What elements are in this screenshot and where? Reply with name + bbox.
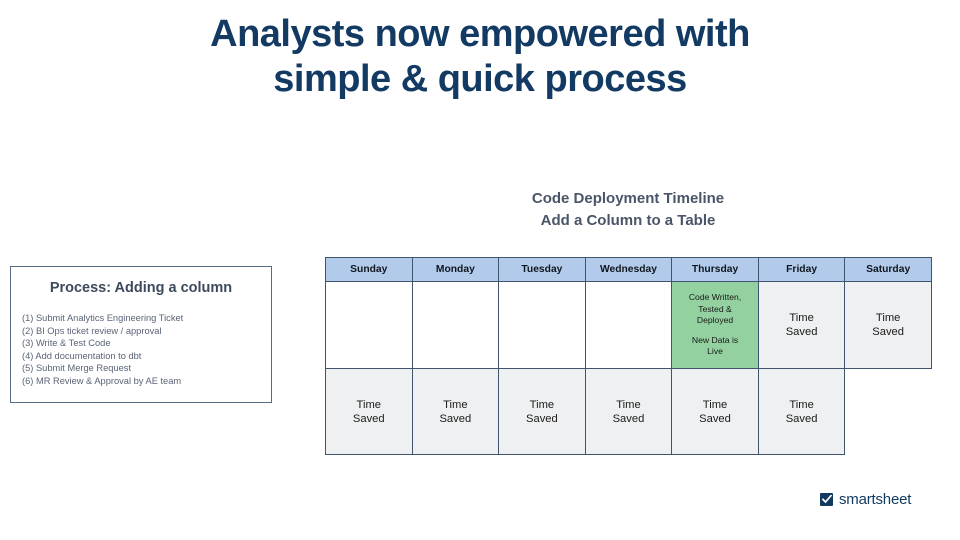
time-saved-line-1: Time — [586, 398, 672, 412]
process-panel: Process: Adding a column (1) Submit Anal… — [10, 266, 272, 403]
process-step-list: (1) Submit Analytics Engineering Ticket … — [22, 312, 271, 388]
cell-wednesday-week1 — [585, 282, 672, 369]
cell-thursday-week2-time-saved: Time Saved — [672, 369, 759, 455]
deployment-timeline-table: Sunday Monday Tuesday Wednesday Thursday… — [325, 257, 932, 455]
process-step: (3) Write & Test Code — [22, 337, 271, 350]
time-saved-line-2: Saved — [672, 412, 758, 426]
smartsheet-wordmark: smartsheet — [839, 491, 911, 508]
column-header-wednesday: Wednesday — [585, 258, 672, 282]
time-saved-line-1: Time — [326, 398, 412, 412]
deployment-text-line-5: Live — [672, 346, 758, 357]
time-saved-line-1: Time — [672, 398, 758, 412]
time-saved-line-1: Time — [759, 398, 845, 412]
cell-saturday-week2-blank — [845, 369, 932, 455]
time-saved-line-1: Time — [499, 398, 585, 412]
deployment-text-line-1: Code Written, — [672, 292, 758, 303]
time-saved-line-1: Time — [845, 311, 931, 325]
column-header-tuesday: Tuesday — [499, 258, 586, 282]
cell-tuesday-week2-time-saved: Time Saved — [499, 369, 586, 455]
process-step: (1) Submit Analytics Engineering Ticket — [22, 312, 271, 325]
cell-sunday-week2-time-saved: Time Saved — [326, 369, 413, 455]
page-title-line-2: simple & quick process — [0, 57, 960, 102]
cell-monday-week2-time-saved: Time Saved — [412, 369, 499, 455]
cell-monday-week1 — [412, 282, 499, 369]
cell-sunday-week1 — [326, 282, 413, 369]
time-saved-line-2: Saved — [499, 412, 585, 426]
process-step: (2) BI Ops ticket review / approval — [22, 325, 271, 338]
deployment-text-line-2: Tested & — [672, 304, 758, 315]
cell-tuesday-week1 — [499, 282, 586, 369]
timeline-heading-line-2: Add a Column to a Table — [325, 210, 931, 232]
table-header-row: Sunday Monday Tuesday Wednesday Thursday… — [326, 258, 932, 282]
table-row: Time Saved Time Saved Time Saved Time Sa… — [326, 369, 932, 455]
column-header-friday: Friday — [758, 258, 845, 282]
timeline-heading: Code Deployment Timeline Add a Column to… — [325, 188, 931, 232]
time-saved-line-2: Saved — [845, 325, 931, 339]
time-saved-line-2: Saved — [586, 412, 672, 426]
column-header-sunday: Sunday — [326, 258, 413, 282]
time-saved-line-2: Saved — [326, 412, 412, 426]
time-saved-line-2: Saved — [413, 412, 499, 426]
page-title-line-1: Analysts now empowered with — [0, 12, 960, 57]
process-step: (5) Submit Merge Request — [22, 362, 271, 375]
time-saved-line-2: Saved — [759, 325, 845, 339]
smartsheet-logo: smartsheet — [820, 491, 911, 508]
cell-saturday-week1-time-saved: Time Saved — [845, 282, 932, 369]
column-header-thursday: Thursday — [672, 258, 759, 282]
cell-wednesday-week2-time-saved: Time Saved — [585, 369, 672, 455]
checkbox-check-icon — [820, 493, 833, 506]
deployment-text-spacer — [672, 326, 758, 335]
timeline-heading-line-1: Code Deployment Timeline — [325, 188, 931, 210]
process-step: (4) Add documentation to dbt — [22, 350, 271, 363]
column-header-saturday: Saturday — [845, 258, 932, 282]
page-title: Analysts now empowered with simple & qui… — [0, 12, 960, 102]
slide-canvas: Analysts now empowered with simple & qui… — [0, 0, 960, 540]
time-saved-line-1: Time — [413, 398, 499, 412]
deployment-text-line-4: New Data is — [672, 335, 758, 346]
time-saved-line-2: Saved — [759, 412, 845, 426]
process-panel-title: Process: Adding a column — [11, 280, 271, 296]
deployment-text-line-3: Deployed — [672, 315, 758, 326]
cell-friday-week2-time-saved: Time Saved — [758, 369, 845, 455]
process-step: (6) MR Review & Approval by AE team — [22, 375, 271, 388]
column-header-monday: Monday — [412, 258, 499, 282]
cell-friday-week1-time-saved: Time Saved — [758, 282, 845, 369]
table-row: Code Written, Tested & Deployed New Data… — [326, 282, 932, 369]
cell-thursday-week1-deployment: Code Written, Tested & Deployed New Data… — [672, 282, 759, 369]
time-saved-line-1: Time — [759, 311, 845, 325]
